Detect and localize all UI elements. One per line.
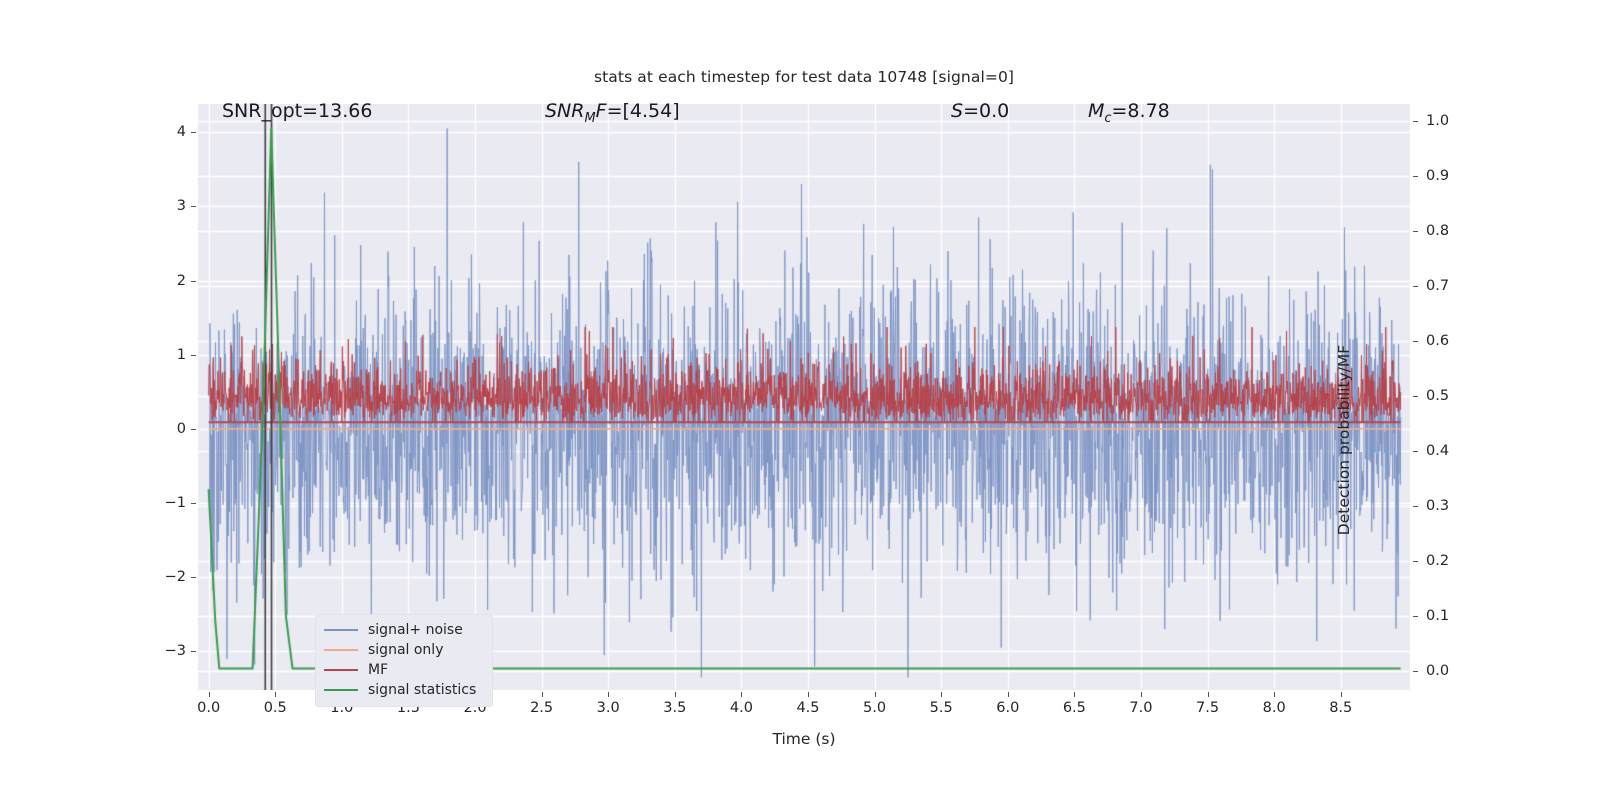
annotation-chirp-mass: Mc=8.78 xyxy=(1088,100,1170,126)
y-axis-right-tick-label: 0.4 xyxy=(1426,443,1449,459)
x-axis-tick-label: 6.0 xyxy=(996,700,1019,716)
legend-swatch-icon xyxy=(324,629,358,631)
y-axis-left-tick-label: 2 xyxy=(138,273,186,289)
legend-swatch-icon xyxy=(324,649,358,651)
y-axis-right-tick-label: 0.3 xyxy=(1426,498,1449,514)
y-axis-right-tick-mark xyxy=(1413,231,1418,232)
x-axis-tick-mark xyxy=(741,692,742,697)
annotation-snr-opt: SNR_opt=13.66 xyxy=(222,100,372,122)
x-axis-tick-mark xyxy=(1141,692,1142,697)
x-axis-tick-label: 5.0 xyxy=(863,700,886,716)
x-axis-tick-label: 8.5 xyxy=(1329,700,1352,716)
y-axis-right-tick-label: 0.8 xyxy=(1426,223,1449,239)
legend[interactable]: signal+ noisesignal onlyMFsignal statist… xyxy=(315,614,493,707)
x-axis-tick-label: 3.0 xyxy=(597,700,620,716)
y-axis-right-tick-label: 0.9 xyxy=(1426,168,1449,184)
y-axis-right-tick-mark xyxy=(1413,451,1418,452)
y-axis-left-tick-label: 3 xyxy=(138,198,186,214)
page-title: stats at each timestep for test data 107… xyxy=(198,68,1410,86)
x-axis-tick-mark xyxy=(1208,692,1209,697)
x-axis-tick-label: 5.5 xyxy=(930,700,953,716)
legend-swatch-icon xyxy=(324,669,358,671)
y-axis-left-tick-label: −1 xyxy=(138,495,186,511)
legend-item-3[interactable]: signal statistics xyxy=(324,680,484,700)
y-axis-left-tick-mark xyxy=(191,132,196,133)
x-axis-tick-label: 8.0 xyxy=(1263,700,1286,716)
x-axis-tick-mark xyxy=(1341,692,1342,697)
y-axis-left-tick-label: 0 xyxy=(138,421,186,437)
legend-item-1[interactable]: signal only xyxy=(324,640,484,660)
x-axis-tick-label: 0.0 xyxy=(197,700,220,716)
plot-canvas[interactable] xyxy=(198,104,1410,690)
y-axis-right-tick-mark xyxy=(1413,561,1418,562)
y-axis-right-tick-mark xyxy=(1413,286,1418,287)
y-axis-right-tick-label: 1.0 xyxy=(1426,113,1449,129)
x-axis-tick-mark xyxy=(608,692,609,697)
legend-label: signal+ noise xyxy=(368,622,463,638)
x-axis-tick-label: 3.5 xyxy=(663,700,686,716)
y-axis-left-tick-mark xyxy=(191,503,196,504)
legend-label: signal only xyxy=(368,642,443,658)
legend-swatch-icon xyxy=(324,689,358,691)
y-axis-right-tick-label: 0.1 xyxy=(1426,608,1449,624)
x-axis-tick-mark xyxy=(941,692,942,697)
y-axis-right-tick-mark xyxy=(1413,506,1418,507)
x-axis-tick-label: 4.0 xyxy=(730,700,753,716)
x-axis-label: Time (s) xyxy=(198,730,1410,748)
y-axis-left-tick-mark xyxy=(191,281,196,282)
x-axis-tick-label: 7.5 xyxy=(1196,700,1219,716)
y-axis-right-tick-label: 0.7 xyxy=(1426,278,1449,294)
y-axis-left-tick-label: 1 xyxy=(138,347,186,363)
y-axis-left-tick-mark xyxy=(191,355,196,356)
y-axis-right-tick-label: 0.0 xyxy=(1426,663,1449,679)
y-axis-right-tick-mark xyxy=(1413,396,1418,397)
y-axis-right-tick-mark xyxy=(1413,176,1418,177)
y-axis-right-tick-mark xyxy=(1413,671,1418,672)
x-axis-tick-mark xyxy=(1008,692,1009,697)
y-axis-right-label: Detection probability/MF xyxy=(1335,250,1353,630)
y-axis-right-tick-mark xyxy=(1413,121,1418,122)
x-axis-tick-mark xyxy=(275,692,276,697)
y-axis-left-tick-label: −3 xyxy=(138,643,186,659)
x-axis-tick-label: 7.0 xyxy=(1129,700,1152,716)
x-axis-tick-mark xyxy=(675,692,676,697)
y-axis-right-tick-mark xyxy=(1413,616,1418,617)
x-axis-tick-label: 0.5 xyxy=(264,700,287,716)
y-axis-left-tick-label: −2 xyxy=(138,569,186,585)
annotation-s-stat: S=0.0 xyxy=(951,100,1009,122)
figure-canvas: stats at each timestep for test data 107… xyxy=(0,0,1600,800)
x-axis-tick-label: 4.5 xyxy=(796,700,819,716)
y-axis-right-tick-mark xyxy=(1413,341,1418,342)
x-axis-tick-mark xyxy=(542,692,543,697)
legend-label: MF xyxy=(368,662,388,678)
x-axis-tick-label: 2.5 xyxy=(530,700,553,716)
x-axis-tick-mark xyxy=(875,692,876,697)
plot-area[interactable] xyxy=(198,104,1410,690)
y-axis-left-tick-mark xyxy=(191,206,196,207)
y-axis-right-tick-label: 0.6 xyxy=(1426,333,1449,349)
y-axis-left-tick-mark xyxy=(191,651,196,652)
x-axis-tick-mark xyxy=(1074,692,1075,697)
y-axis-right-tick-label: 0.5 xyxy=(1426,388,1449,404)
annotation-snr-mf: SNRMF=[4.54] xyxy=(545,100,680,126)
y-axis-left-tick-mark xyxy=(191,429,196,430)
x-axis-tick-mark xyxy=(1274,692,1275,697)
y-axis-left-tick-mark xyxy=(191,577,196,578)
x-axis-tick-mark xyxy=(209,692,210,697)
x-axis-tick-mark xyxy=(808,692,809,697)
y-axis-right-tick-label: 0.2 xyxy=(1426,553,1449,569)
legend-item-2[interactable]: MF xyxy=(324,660,484,680)
legend-label: signal statistics xyxy=(368,682,476,698)
y-axis-left-tick-label: 4 xyxy=(138,124,186,140)
x-axis-tick-label: 6.5 xyxy=(1063,700,1086,716)
legend-item-0[interactable]: signal+ noise xyxy=(324,620,484,640)
